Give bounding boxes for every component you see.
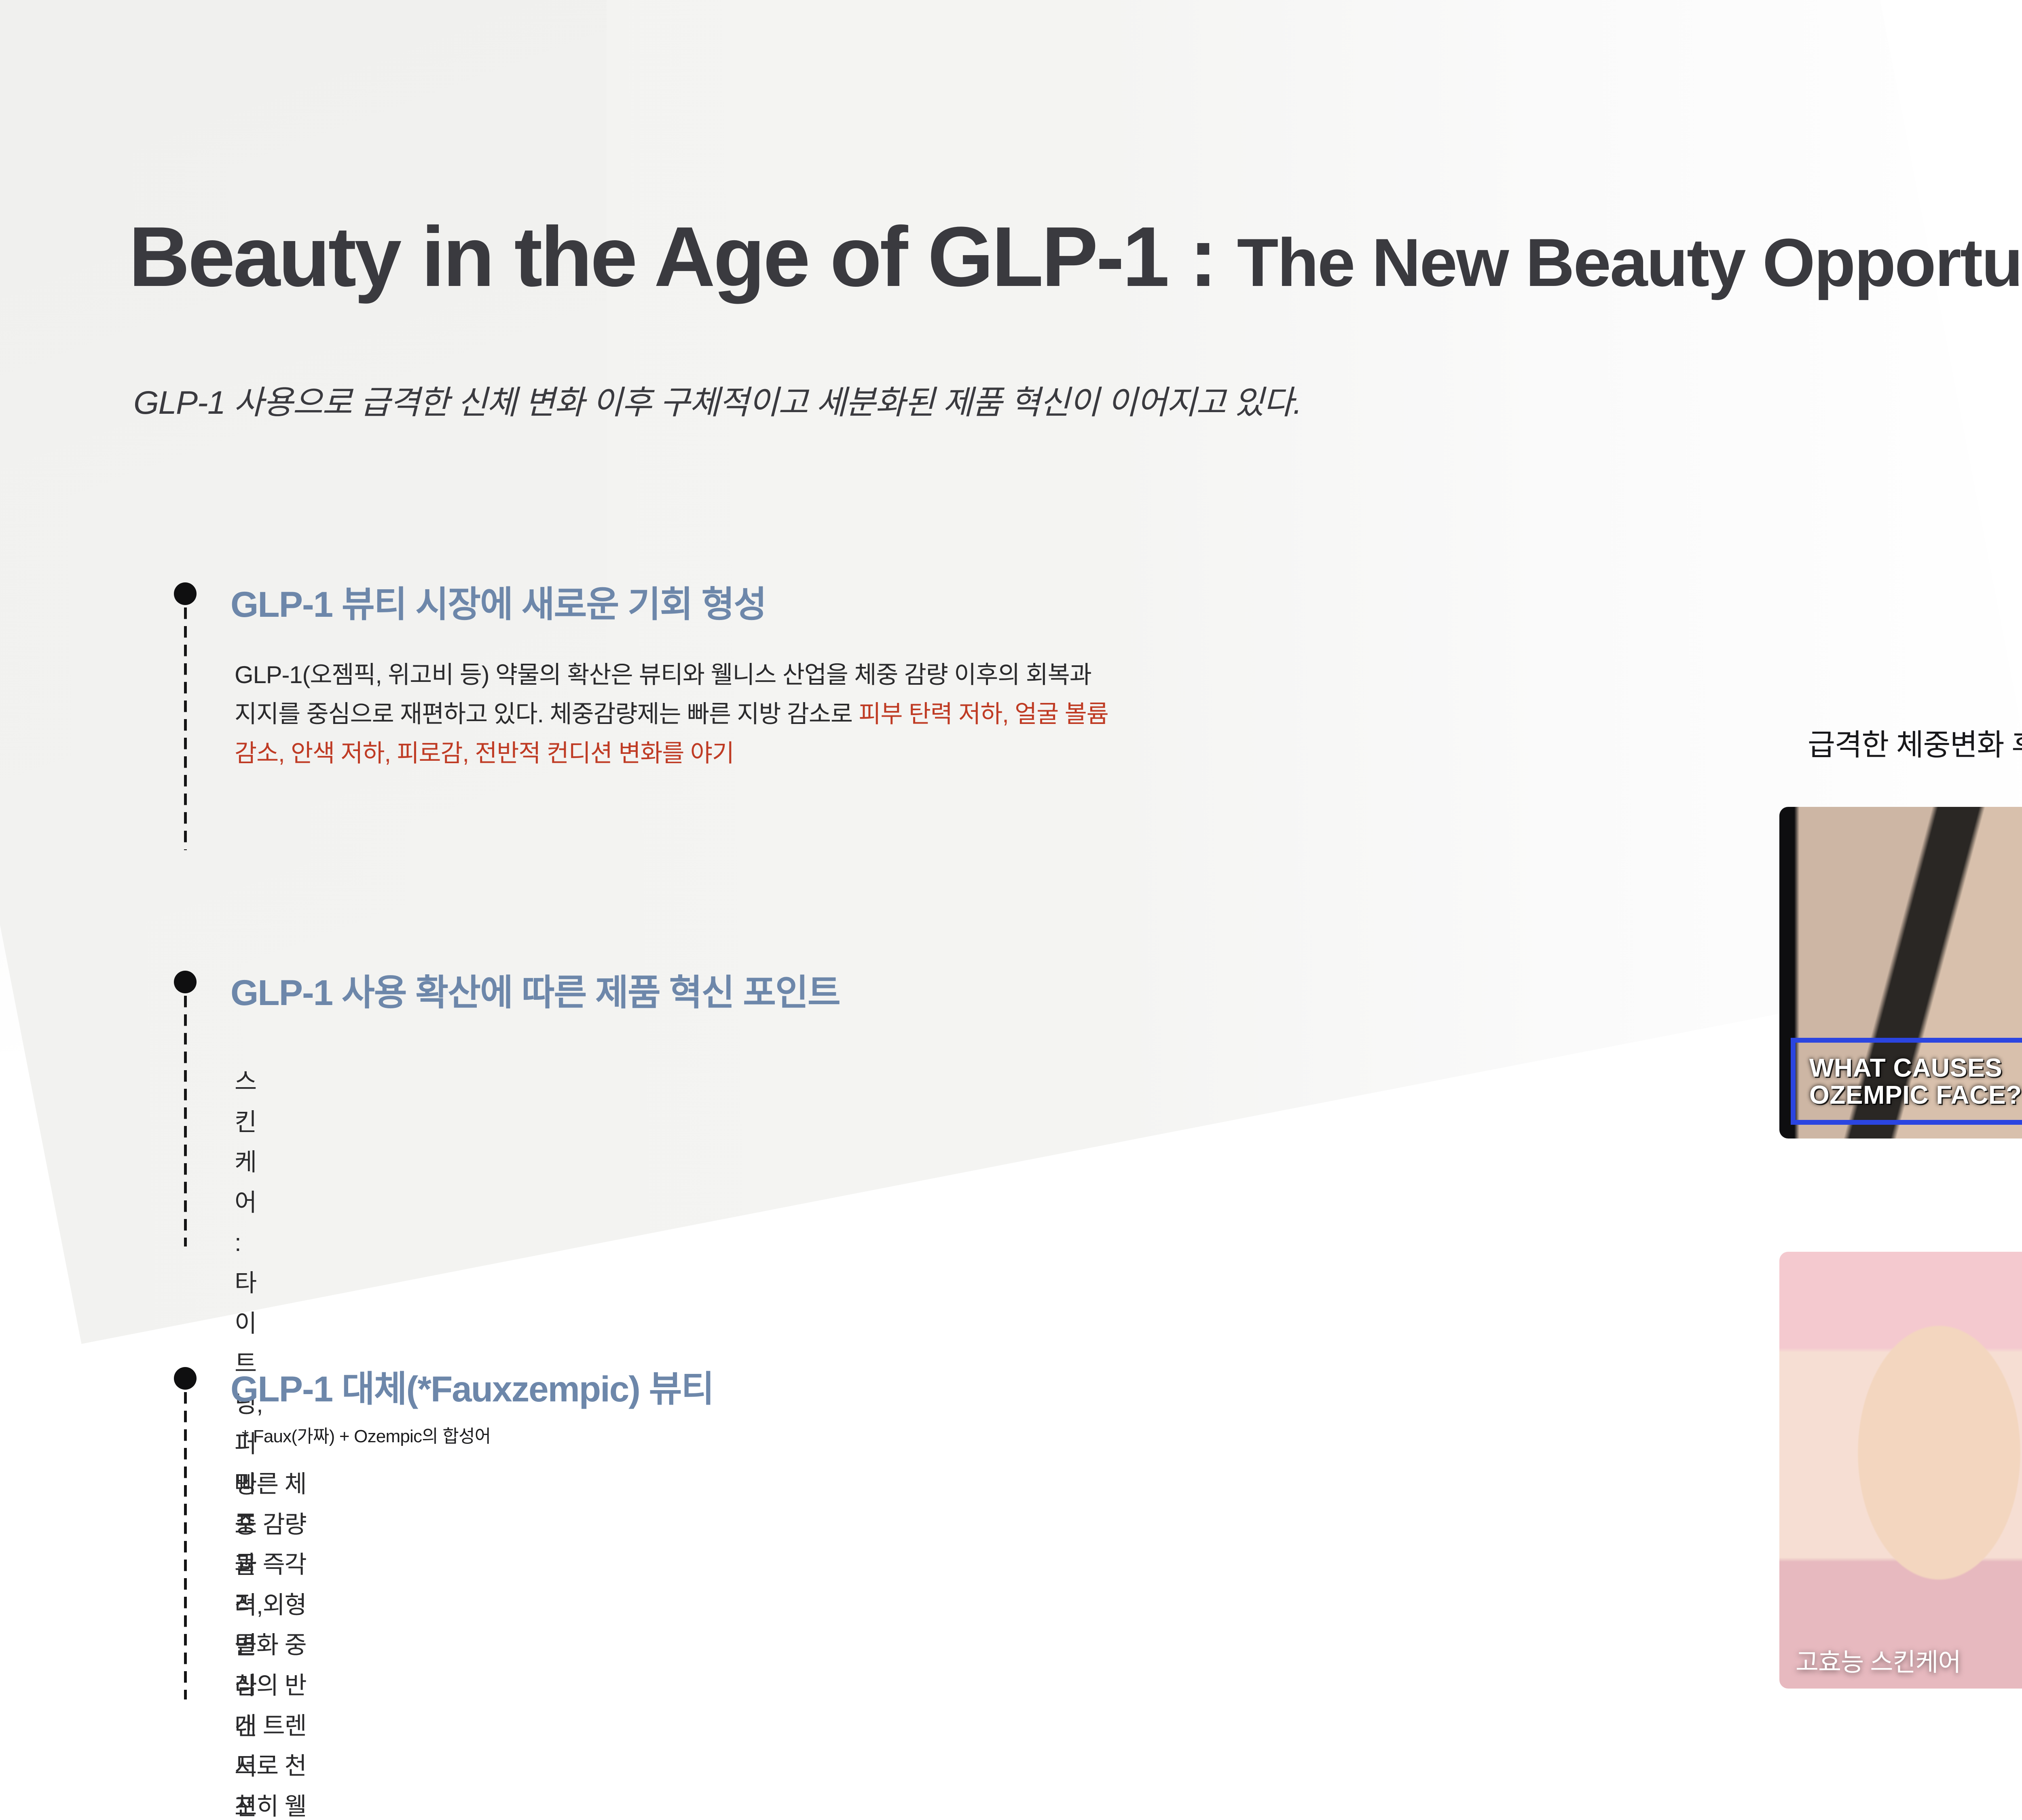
section-3-line-1: 빠른 체중 감량과 즉각적 외형 변화 중심의 반대 트렌드로 천천히 웰빙과 (235, 1464, 326, 1820)
section-1-highlight-1: 피부 탄력 저하, 얼굴 볼륨 (859, 700, 1108, 728)
image-high-efficacy-skincare[interactable]: 고효능 스킨케어 (1779, 1252, 2022, 1689)
connector-dotted-line (184, 1392, 187, 1699)
slide-root: Pia Fisher, Beauty Strategist, WGSN MARK… (0, 0, 2022, 1820)
section-2-heading: GLP-1 사용 확산에 따른 제품 혁신 포인트 (231, 963, 840, 1016)
title-part-1: Beauty in the Age of GLP-1 : (129, 209, 1237, 304)
section-1-heading: GLP-1 뷰티 시장에 새로운 기회 형성 (231, 575, 766, 627)
connector-dotted-line (184, 607, 187, 850)
background-corner-tint (0, 0, 607, 1052)
title-part-2: The New Beauty Opportunity (1237, 224, 2022, 301)
bullet-dot-icon (174, 582, 197, 605)
section-3-heading: GLP-1 대체(*Fauxzempic) 뷰티 (231, 1360, 713, 1412)
meme-line-1: WHAT CAUSES (1809, 1054, 2022, 1081)
section-1-highlight-2: 감소, 안색 저하, 피로감, 전반적 컨디션 변화를 야기 (235, 740, 734, 767)
section-3-body: 빠른 체중 감량과 즉각적 외형 변화 중심의 반대 트렌드로 천천히 웰빙과 … (235, 1464, 326, 1820)
page-subtitle: GLP-1 사용으로 급격한 신체 변화 이후 구체적이고 세분화된 제품 혁신… (133, 376, 1301, 423)
meme-line-2: OZEMPIC FACE? (1809, 1081, 2022, 1109)
bullet-dot-icon (174, 971, 197, 993)
connector-dotted-line (184, 996, 187, 1246)
image-caption: 고효능 스킨케어 (1779, 1642, 2022, 1678)
section-1-body-line-1: GLP-1(오젬픽, 위고비 등) 약물의 확산은 뷰티와 웰니스 산업을 체중… (235, 661, 1091, 688)
bullet-dot-icon (174, 1367, 197, 1390)
right-panel-title: 급격한 체중변화 후에 오는 #오젬픽 페이스(Ozempic face) (1808, 721, 2022, 764)
section-1-body-line-2: 지지를 중심으로 재편하고 있다. 체중감량제는 빠른 지방 감소로 (235, 700, 859, 728)
page-title: Beauty in the Age of GLP-1 : The New Bea… (129, 214, 2022, 299)
image-ozempic-face-meme[interactable]: WHAT CAUSES OZEMPIC FACE? (1779, 807, 2022, 1139)
meme-caption-box: WHAT CAUSES OZEMPIC FACE? (1791, 1038, 2022, 1125)
section-3-note: * Faux(가짜) + Ozempic의 합성어 (242, 1422, 491, 1448)
section-1-body: GLP-1(오젬픽, 위고비 등) 약물의 확산은 뷰티와 웰니스 산업을 체중… (235, 655, 1148, 773)
